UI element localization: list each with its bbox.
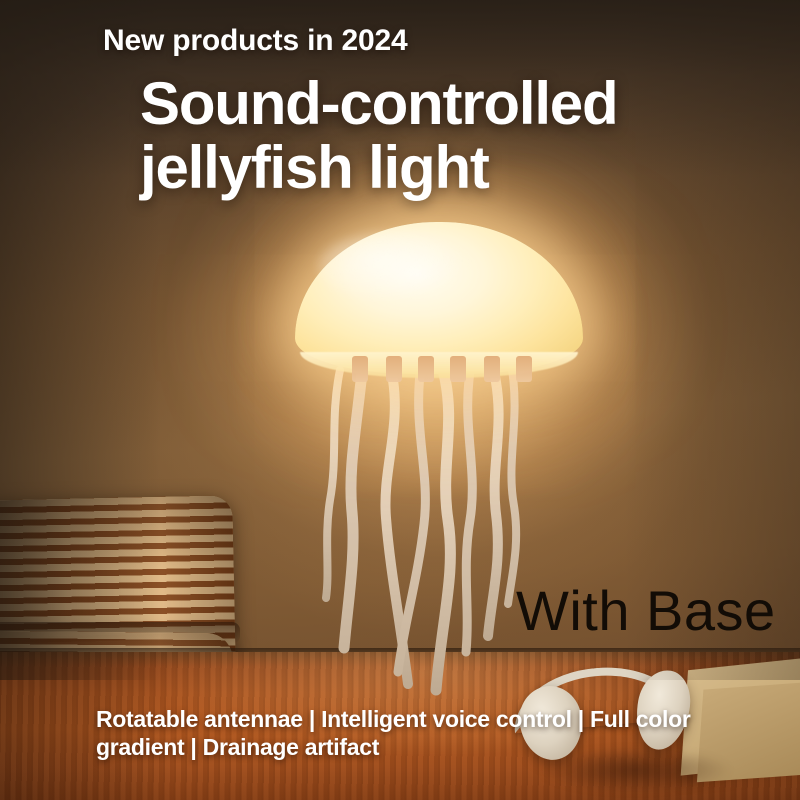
page-title: Sound-controlled jellyfish light: [140, 72, 617, 200]
feature-list-text: Rotatable antennae | Intelligent voice c…: [96, 705, 756, 761]
product-banner: New products in 2024 Sound-controlled je…: [0, 0, 800, 800]
headline-line-2: jellyfish light: [140, 136, 617, 200]
headline-line-1: Sound-controlled: [140, 72, 617, 136]
with-base-badge: With Base: [516, 578, 776, 643]
eyebrow-text: New products in 2024: [103, 24, 407, 58]
